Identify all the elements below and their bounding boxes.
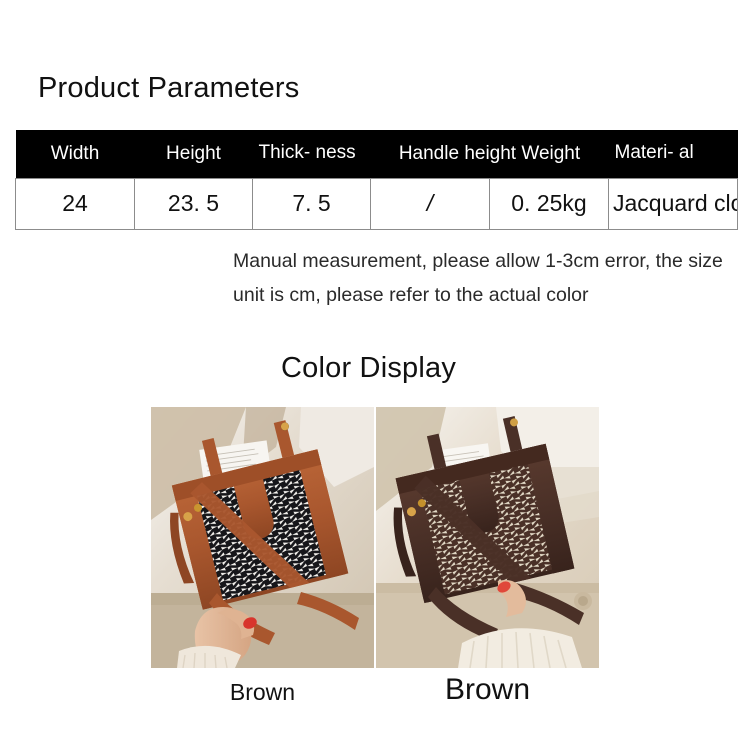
column-header-handle-height-weight: Handle height Weight <box>371 130 609 178</box>
section-title-color-display: Color Display <box>281 352 456 385</box>
product-photo-brown-chocolate[interactable] <box>376 407 599 668</box>
color-swatch-caption-left: Brown <box>151 679 374 706</box>
cell-width-value: 24 <box>16 178 135 229</box>
measurement-disclaimer: Manual measurement, please allow 1-3cm e… <box>233 245 733 312</box>
product-photo-chocolate-illustration <box>376 407 599 668</box>
table-row: 24 23. 5 7. 5 / 0. 25kg Jacquard cloth <box>16 178 738 229</box>
cell-material-value: Jacquard cloth <box>609 178 738 229</box>
color-display-gallery <box>151 407 600 668</box>
cell-height-value: 23. 5 <box>135 178 253 229</box>
table-body: 24 23. 5 7. 5 / 0. 25kg Jacquard cloth <box>16 178 738 229</box>
table-header: Width Height Thick- ness Handle height W… <box>16 130 738 178</box>
column-header-thickness: Thick- ness <box>253 130 371 178</box>
table-header-row: Width Height Thick- ness Handle height W… <box>16 130 738 178</box>
column-header-width: Width <box>16 130 135 178</box>
cell-weight-value: 0. 25kg <box>490 178 609 229</box>
product-parameters-table: Width Height Thick- ness Handle height W… <box>15 130 738 230</box>
product-photo-brown-cognac[interactable] <box>151 407 374 668</box>
column-header-height: Height <box>135 130 253 178</box>
cell-thickness-value: 7. 5 <box>253 178 371 229</box>
column-header-material: Materi- al <box>609 130 738 178</box>
product-photo-cognac-illustration <box>151 407 374 668</box>
page-title-product-parameters: Product Parameters <box>38 72 300 105</box>
cell-handle-height-value: / <box>371 178 490 229</box>
color-swatch-caption-right: Brown <box>376 673 599 707</box>
